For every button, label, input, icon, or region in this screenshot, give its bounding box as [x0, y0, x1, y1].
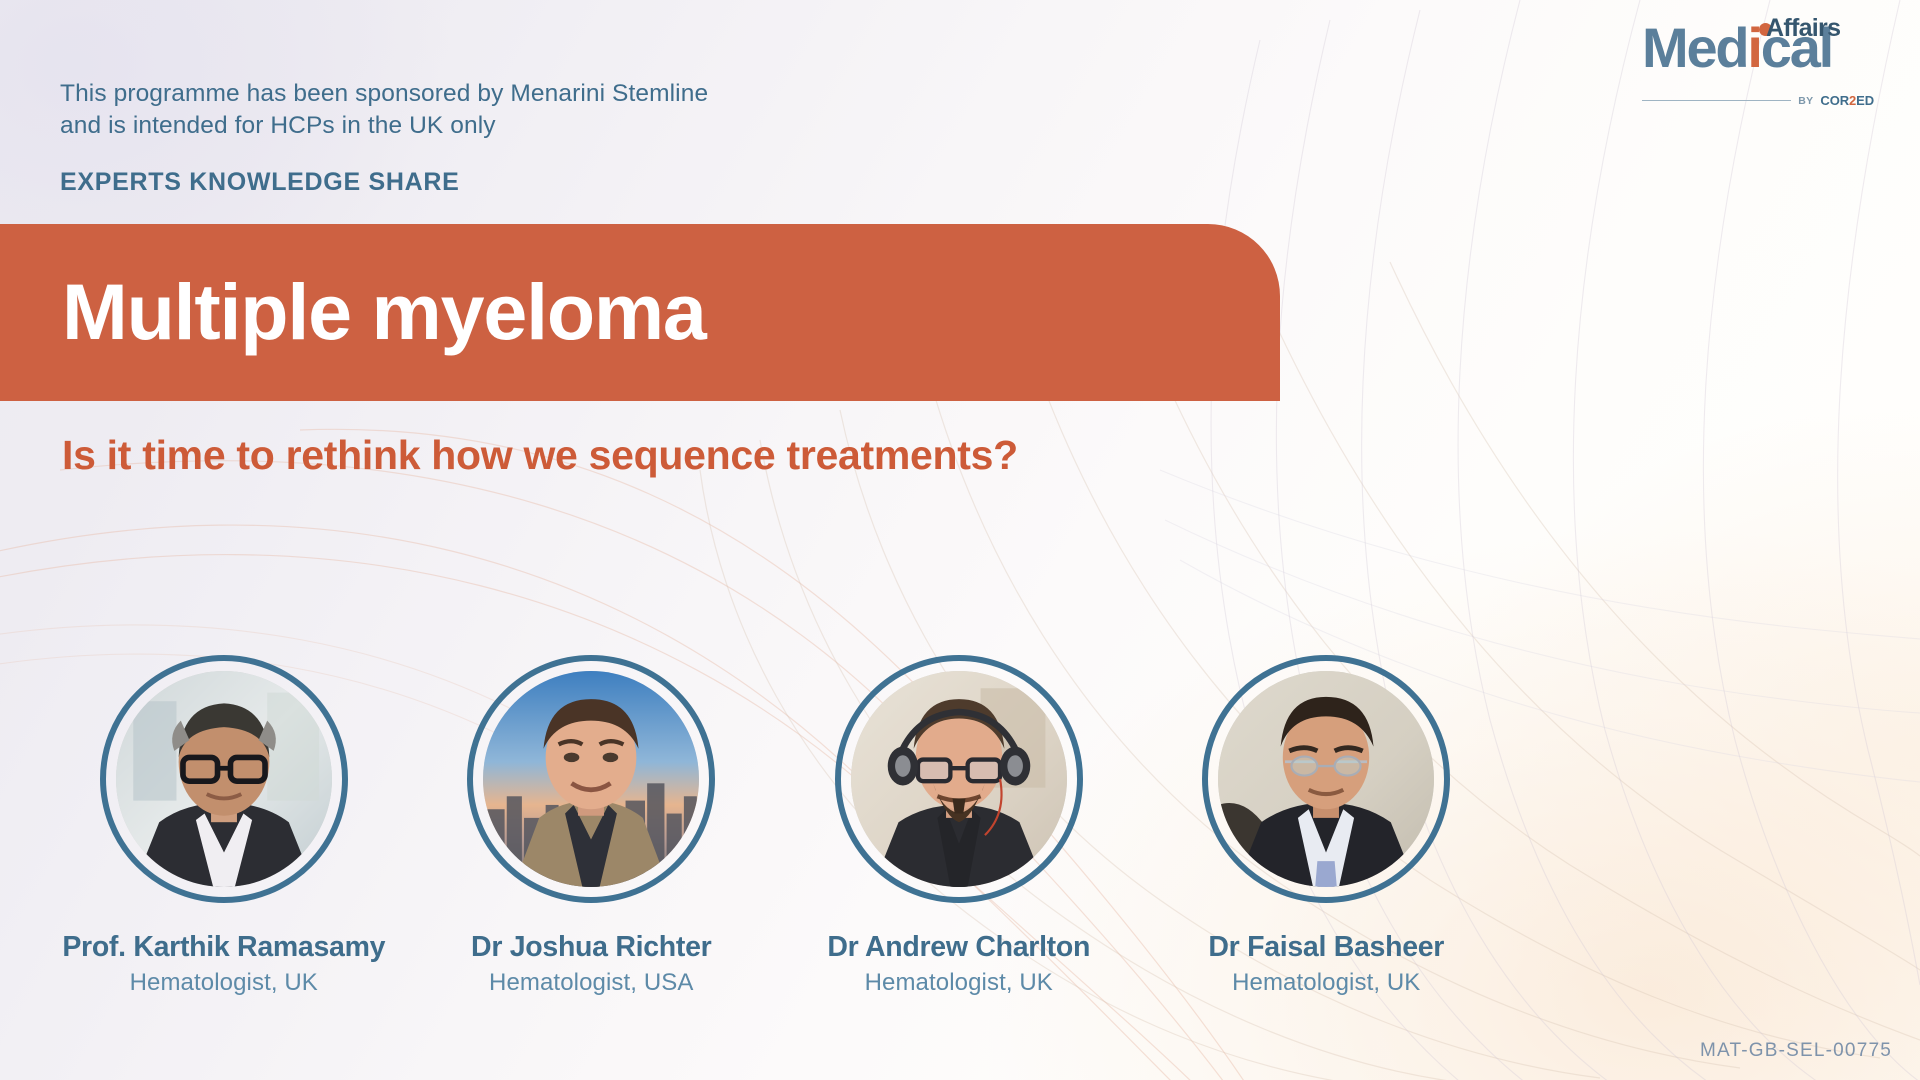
medical-affairs-logo: Medical Affairs BY COR2ED	[1642, 16, 1874, 112]
logo-wordmark: Medical Affairs	[1642, 16, 1874, 78]
avatar-ring	[835, 655, 1083, 903]
logo-cor: COR	[1820, 93, 1849, 108]
speaker-role: Hematologist, UK	[130, 969, 318, 997]
speaker-card: Dr Faisal Basheer Hematologist, UK	[1143, 655, 1511, 997]
reference-code: MAT-GB-SEL-00775	[1700, 1040, 1892, 1062]
speaker-role: Hematologist, USA	[489, 969, 693, 997]
avatar-ring	[1202, 655, 1450, 903]
speaker-name: Dr Faisal Basheer	[1208, 931, 1444, 964]
avatar	[1202, 655, 1450, 903]
title-band: Multiple myeloma	[0, 224, 1280, 401]
programme-label: EXPERTS KNOWLEDGE SHARE	[60, 168, 459, 197]
speaker-role: Hematologist, UK	[865, 969, 1053, 997]
logo-i: i	[1747, 16, 1760, 79]
speaker-card: Dr Andrew Charlton Hematologist, UK	[775, 655, 1143, 997]
speaker-name: Dr Andrew Charlton	[827, 931, 1090, 964]
speaker-role: Hematologist, UK	[1232, 969, 1420, 997]
sponsor-statement: This programme has been sponsored by Men…	[60, 78, 890, 143]
logo-affairs-text: Affairs	[1766, 16, 1840, 41]
page-title: Multiple myeloma	[62, 271, 706, 350]
speaker-card: Prof. Karthik Ramasamy Hematologist, UK	[40, 655, 408, 997]
logo-med: Med	[1642, 16, 1747, 79]
sponsor-line-1: This programme has been sponsored by Men…	[60, 78, 890, 110]
avatar-ring	[100, 655, 348, 903]
speaker-list: Prof. Karthik Ramasamy Hematologist, UK	[40, 655, 1510, 997]
page-subtitle: Is it time to rethink how we sequence tr…	[62, 432, 1018, 479]
avatar	[467, 655, 715, 903]
avatar	[100, 655, 348, 903]
logo-ed: ED	[1856, 93, 1874, 108]
logo-byline-rule	[1642, 100, 1791, 101]
speaker-name: Prof. Karthik Ramasamy	[62, 931, 385, 964]
speaker-card: Dr Joshua Richter Hematologist, USA	[408, 655, 776, 997]
logo-by-text: BY	[1798, 95, 1813, 107]
logo-cor2ed-text: COR2ED	[1820, 93, 1874, 108]
sponsor-line-2: and is intended for HCPs in the UK only	[60, 110, 890, 142]
speaker-name: Dr Joshua Richter	[471, 931, 711, 964]
avatar	[835, 655, 1083, 903]
logo-byline: BY COR2ED	[1642, 93, 1874, 108]
slide-root: This programme has been sponsored by Men…	[0, 0, 1920, 1080]
avatar-ring	[467, 655, 715, 903]
